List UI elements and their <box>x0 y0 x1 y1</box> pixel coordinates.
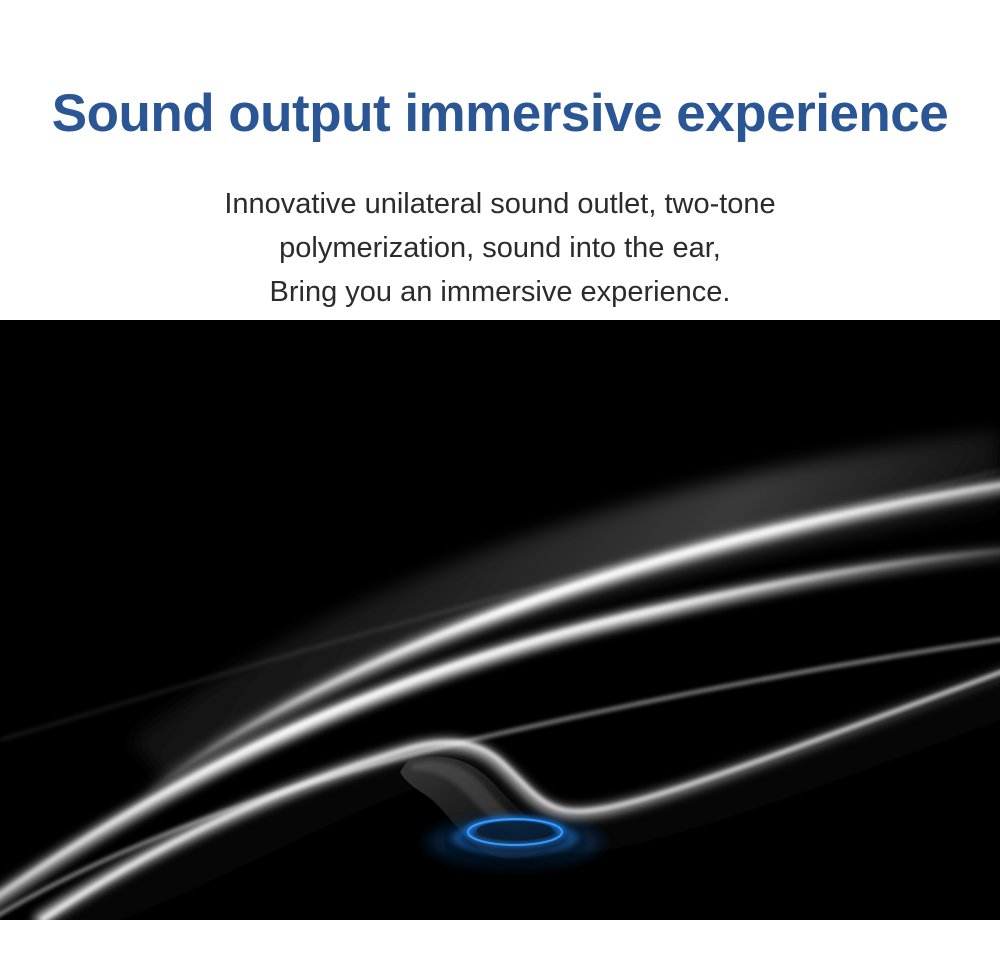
sound-wave-rings <box>419 815 611 869</box>
description-paragraph: Innovative unilateral sound outlet, two-… <box>0 182 1000 314</box>
sound-ring-core-fill <box>477 821 553 839</box>
description-line-2: polymerization, sound into the ear, <box>0 226 1000 270</box>
hero-illustration <box>0 320 1000 920</box>
page-title: Sound output immersive experience <box>0 84 1000 144</box>
bottom-white-strip <box>0 920 1000 957</box>
hero-product-image <box>0 320 1000 920</box>
text-section: Sound output immersive experience Innova… <box>0 0 1000 320</box>
product-banner: Sound output immersive experience Innova… <box>0 0 1000 957</box>
description-line-3: Bring you an immersive experience. <box>0 270 1000 314</box>
description-line-1: Innovative unilateral sound outlet, two-… <box>0 182 1000 226</box>
